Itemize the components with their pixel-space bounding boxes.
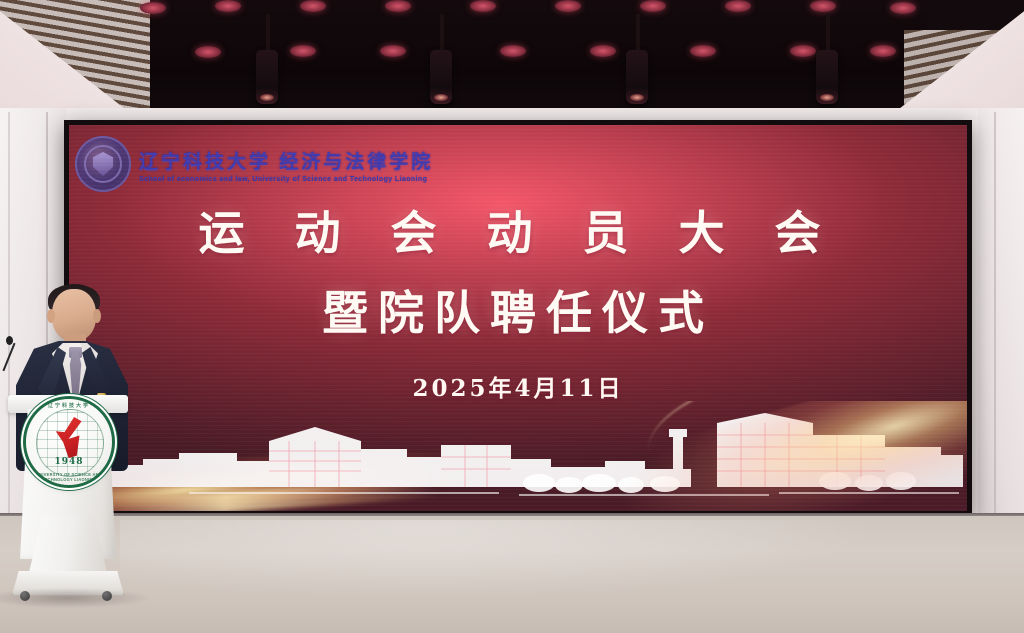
downlight-icon	[215, 0, 241, 12]
ceiling-black-panel	[98, 0, 928, 118]
moving-head-light-icon	[816, 50, 838, 104]
moving-head-light-icon	[256, 50, 278, 104]
downlight-icon	[300, 0, 326, 12]
wall-seam-right	[994, 112, 996, 520]
downlight-icon	[870, 45, 896, 57]
downlight-icon	[470, 0, 496, 12]
downlight-icon	[640, 0, 666, 12]
led-scanlines	[69, 125, 967, 511]
wall-panel-right	[978, 108, 1024, 523]
moving-head-light-icon	[430, 50, 452, 104]
speaker-ear-right	[93, 309, 101, 323]
emblem-ring-english: UNIVERSITY OF SCIENCE AND TECHNOLOGY LIA…	[28, 472, 110, 482]
moving-head-light-icon	[626, 50, 648, 104]
downlight-icon	[790, 45, 816, 57]
university-emblem-icon: 辽宁科技大学 1948 UNIVERSITY OF SCIENCE AND TE…	[26, 399, 112, 485]
led-screen: 辽宁科技大学 经济与法律学院 School of economics and l…	[69, 125, 967, 511]
podium: 辽宁科技大学 1948 UNIVERSITY OF SCIENCE AND TE…	[6, 395, 130, 611]
downlight-icon	[555, 0, 581, 12]
downlight-icon	[890, 2, 916, 14]
downlight-icon	[500, 45, 526, 57]
downlight-icon	[290, 45, 316, 57]
podium-shadow	[0, 588, 150, 608]
stage-photo-scene: 辽宁科技大学 经济与法律学院 School of economics and l…	[0, 0, 1024, 633]
truss-drop	[826, 14, 830, 52]
truss-drop	[266, 14, 270, 52]
downlight-icon	[380, 45, 406, 57]
downlight-icon	[725, 0, 751, 12]
led-screen-frame: 辽宁科技大学 经济与法律学院 School of economics and l…	[64, 120, 972, 516]
downlight-icon	[690, 45, 716, 57]
speaker-ear-left	[47, 309, 55, 323]
emblem-ring-chinese: 辽宁科技大学	[26, 402, 112, 409]
downlight-icon	[140, 2, 166, 14]
downlight-icon	[385, 0, 411, 12]
floor-light-sheen	[120, 520, 880, 600]
downlight-icon	[195, 46, 221, 58]
emblem-founding-year: 1948	[26, 457, 112, 467]
truss-drop	[440, 14, 444, 52]
downlight-icon	[590, 45, 616, 57]
truss-drop	[636, 14, 640, 52]
downlight-icon	[810, 0, 836, 12]
